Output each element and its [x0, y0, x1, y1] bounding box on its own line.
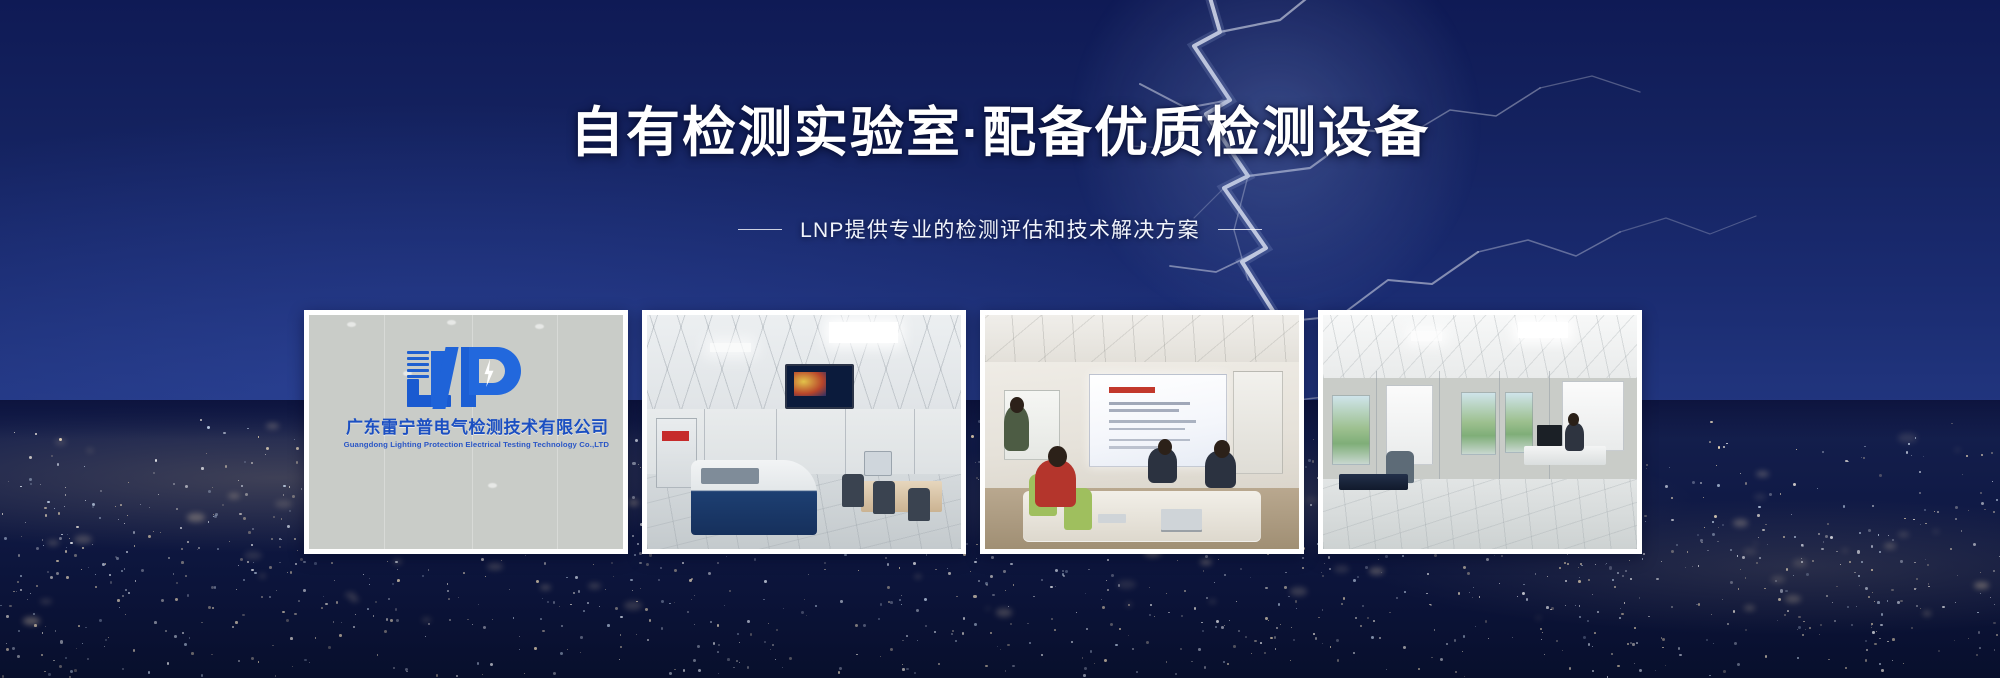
person-at-desk	[1565, 423, 1584, 451]
wall-monitor	[785, 364, 854, 408]
gallery-card-testing-laboratory[interactable]	[642, 310, 966, 554]
photo-training-meeting-room	[985, 315, 1299, 549]
test-console	[691, 460, 817, 535]
photo-open-office	[1323, 315, 1637, 549]
hero-banner: 自有检测实验室·配备优质检测设备 LNP提供专业的检测评估和技术解决方案	[0, 0, 2000, 678]
gallery-card-open-office[interactable]	[1318, 310, 1642, 554]
lnp-logo-mark-icon	[405, 345, 527, 407]
person-seated-front	[1035, 460, 1076, 507]
page-title: 自有检测实验室·配备优质检测设备	[0, 106, 2000, 160]
photo-gallery: 广东雷宁普电气检测技术有限公司 Guangdong Lighting Prote…	[304, 310, 1648, 554]
logo-company-name-en: Guangdong Lighting Protection Electrical…	[344, 440, 589, 449]
rule-left-icon	[738, 229, 782, 230]
photo-lobby-sign-wall: 广东雷宁普电气检测技术有限公司 Guangdong Lighting Prote…	[309, 315, 623, 549]
rule-right-icon	[1218, 229, 1262, 230]
lnp-company-logo: 广东雷宁普电气检测技术有限公司 Guangdong Lighting Prote…	[346, 345, 586, 449]
gallery-card-training-meeting-room[interactable]	[980, 310, 1304, 554]
desktop-monitor	[1537, 425, 1562, 446]
page-subtitle: LNP提供专业的检测评估和技术解决方案	[800, 214, 1200, 244]
photo-testing-laboratory	[647, 315, 961, 549]
subtitle-row: LNP提供专业的检测评估和技术解决方案	[0, 214, 2000, 244]
gallery-card-lobby-sign-wall[interactable]: 广东雷宁普电气检测技术有限公司 Guangdong Lighting Prote…	[304, 310, 628, 554]
logo-company-name-cn: 广东雷宁普电气检测技术有限公司	[346, 413, 586, 438]
